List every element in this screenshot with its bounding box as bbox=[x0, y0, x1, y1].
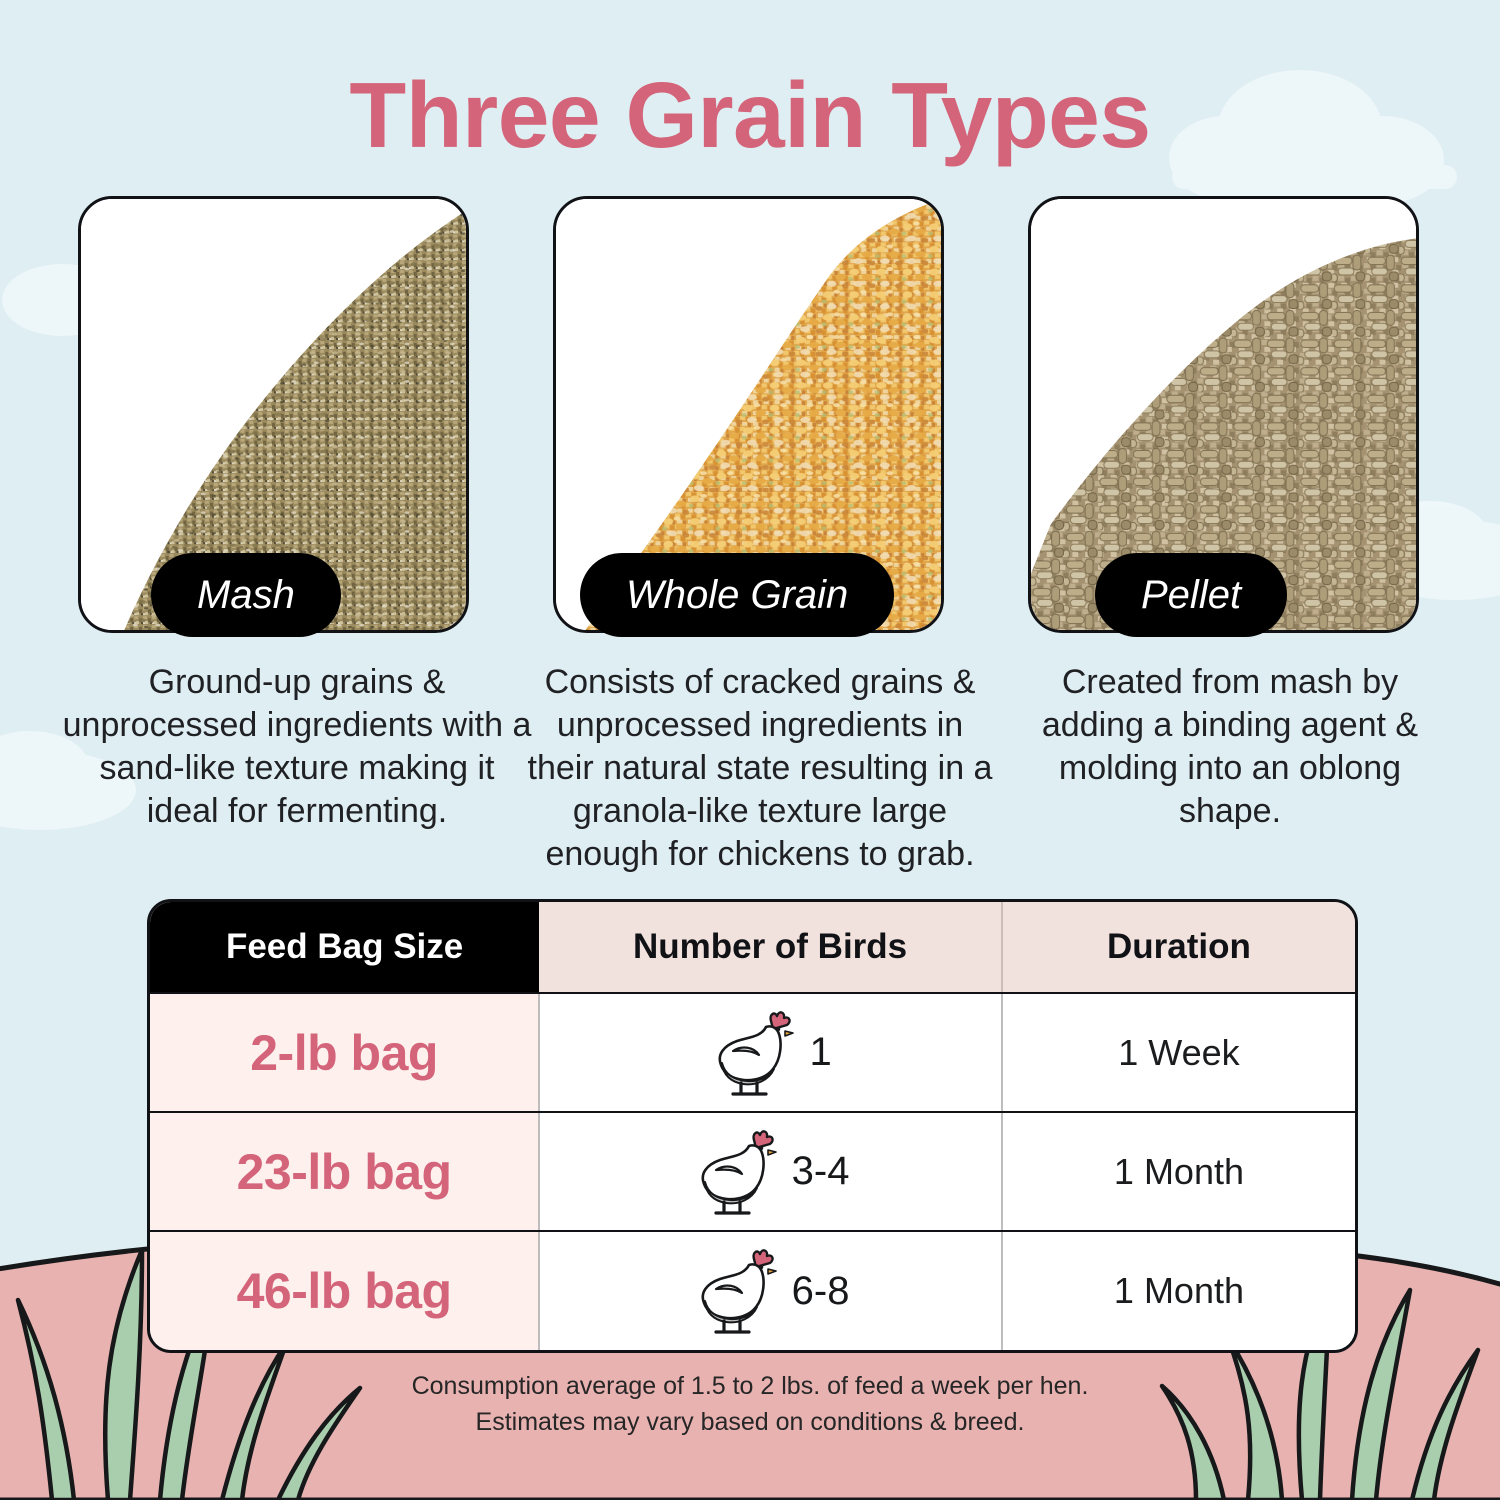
page-title: Three Grain Types bbox=[0, 62, 1500, 169]
cell-birds-1: 1 bbox=[539, 993, 1002, 1112]
footnote-line-1: Consumption average of 1.5 to 2 lbs. of … bbox=[0, 1368, 1500, 1404]
cell-bag-size-1: 2-lb bag bbox=[150, 993, 539, 1112]
cell-duration-2: 1 Month bbox=[1002, 1112, 1355, 1231]
grain-description-mash: Ground-up grains & unprocessed ingredien… bbox=[62, 661, 532, 833]
cell-duration-1: 1 Week bbox=[1002, 993, 1355, 1112]
cell-bag-size-3: 46-lb bag bbox=[150, 1231, 539, 1350]
hen-icon bbox=[692, 1126, 778, 1218]
grain-description-pellet: Created from mash by adding a binding ag… bbox=[1035, 661, 1425, 833]
footnote: Consumption average of 1.5 to 2 lbs. of … bbox=[0, 1368, 1500, 1441]
feed-chart-table-wrapper: Feed Bag Size Number of Birds Duration 2… bbox=[147, 899, 1358, 1353]
grain-label-whole-grain: Whole Grain bbox=[580, 553, 894, 637]
cell-duration-3: 1 Month bbox=[1002, 1231, 1355, 1350]
grain-label-pellet: Pellet bbox=[1095, 553, 1287, 637]
birds-count-2: 3-4 bbox=[792, 1149, 850, 1194]
cell-bag-size-2: 23-lb bag bbox=[150, 1112, 539, 1231]
birds-count-3: 6-8 bbox=[792, 1269, 850, 1314]
hen-icon bbox=[709, 1007, 795, 1099]
hen-icon bbox=[692, 1245, 778, 1337]
table-row: 23-lb bag 3-4 bbox=[150, 1112, 1355, 1231]
table-header-duration: Duration bbox=[1002, 902, 1355, 993]
table-row: 46-lb bag 6-8 bbox=[150, 1231, 1355, 1350]
feed-chart-table: Feed Bag Size Number of Birds Duration 2… bbox=[150, 902, 1355, 1350]
footnote-line-2: Estimates may vary based on conditions &… bbox=[0, 1404, 1500, 1440]
cell-birds-3: 6-8 bbox=[539, 1231, 1002, 1350]
grain-label-mash: Mash bbox=[151, 553, 341, 637]
table-header-feed-bag-size: Feed Bag Size bbox=[150, 902, 539, 993]
table-row: 2-lb bag 1 bbox=[150, 993, 1355, 1112]
table-header-row: Feed Bag Size Number of Birds Duration bbox=[150, 902, 1355, 993]
birds-count-1: 1 bbox=[809, 1030, 831, 1075]
table-header-number-of-birds: Number of Birds bbox=[539, 902, 1002, 993]
cell-birds-2: 3-4 bbox=[539, 1112, 1002, 1231]
grain-description-whole-grain: Consists of cracked grains & unprocessed… bbox=[520, 661, 1000, 876]
